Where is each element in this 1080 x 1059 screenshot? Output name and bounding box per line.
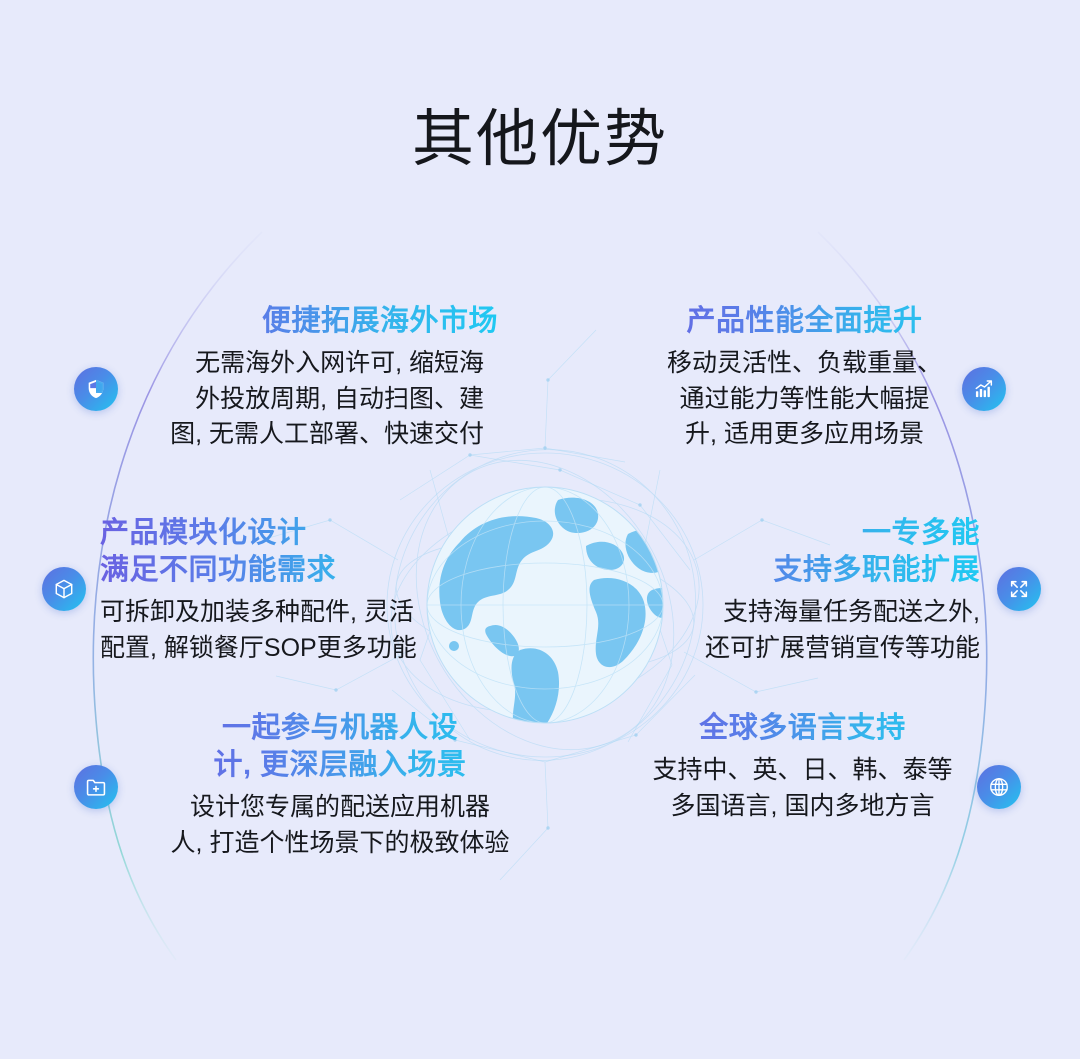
feature-overseas-heading: 便捷拓展海外市场 [148, 303, 498, 340]
feature-modular-body: 可拆卸及加装多种配件, 灵活 配置, 解锁餐厅SOP更多功能 [100, 595, 458, 666]
feature-performance-heading: 产品性能全面提升 [632, 303, 977, 340]
folder-plus-icon [74, 765, 118, 809]
page-title: 其他优势 [0, 106, 1080, 174]
feature-performance: 产品性能全面提升 移动灵活性、负载重量、 通过能力等性能大幅提 升, 适用更多应… [632, 303, 977, 453]
advantages-infographic: 其他优势 便捷拓展海外市场 无需海外入网许可, 缩短海 外投放周期, 自动扫图、… [0, 0, 1080, 1059]
feature-languages: 全球多语言支持 支持中、英、日、韩、泰等 多国语言, 国内多地方言 [630, 710, 975, 824]
feature-modular: 产品模块化设计 满足不同功能需求 可拆卸及加装多种配件, 灵活 配置, 解锁餐厅… [100, 515, 458, 666]
shield-icon [74, 367, 118, 411]
feature-modular-heading: 产品模块化设计 满足不同功能需求 [100, 515, 458, 589]
feature-languages-body: 支持中、英、日、韩、泰等 多国语言, 国内多地方言 [630, 753, 975, 824]
feature-multifunction: 一专多能 支持多职能扩展 支持海量任务配送之外, 还可扩展营销宣传等功能 [640, 515, 980, 666]
feature-codesign: 一起参与机器人设 计, 更深层融入场景 设计您专属的配送应用机器 人, 打造个性… [140, 710, 540, 861]
expand-arrows-icon [997, 567, 1041, 611]
feature-overseas-body: 无需海外入网许可, 缩短海 外投放周期, 自动扫图、建 图, 无需人工部署、快速… [148, 346, 498, 453]
feature-multifunction-heading: 一专多能 支持多职能扩展 [640, 515, 980, 589]
globe-icon [977, 765, 1021, 809]
feature-performance-body: 移动灵活性、负载重量、 通过能力等性能大幅提 升, 适用更多应用场景 [632, 346, 977, 453]
feature-multifunction-body: 支持海量任务配送之外, 还可扩展营销宣传等功能 [640, 595, 980, 666]
feature-codesign-body: 设计您专属的配送应用机器 人, 打造个性场景下的极致体验 [140, 790, 540, 861]
feature-overseas: 便捷拓展海外市场 无需海外入网许可, 缩短海 外投放周期, 自动扫图、建 图, … [148, 303, 498, 453]
feature-codesign-heading: 一起参与机器人设 计, 更深层融入场景 [140, 710, 540, 784]
cube-icon [42, 567, 86, 611]
chart-growth-icon [962, 367, 1006, 411]
feature-languages-heading: 全球多语言支持 [630, 710, 975, 747]
